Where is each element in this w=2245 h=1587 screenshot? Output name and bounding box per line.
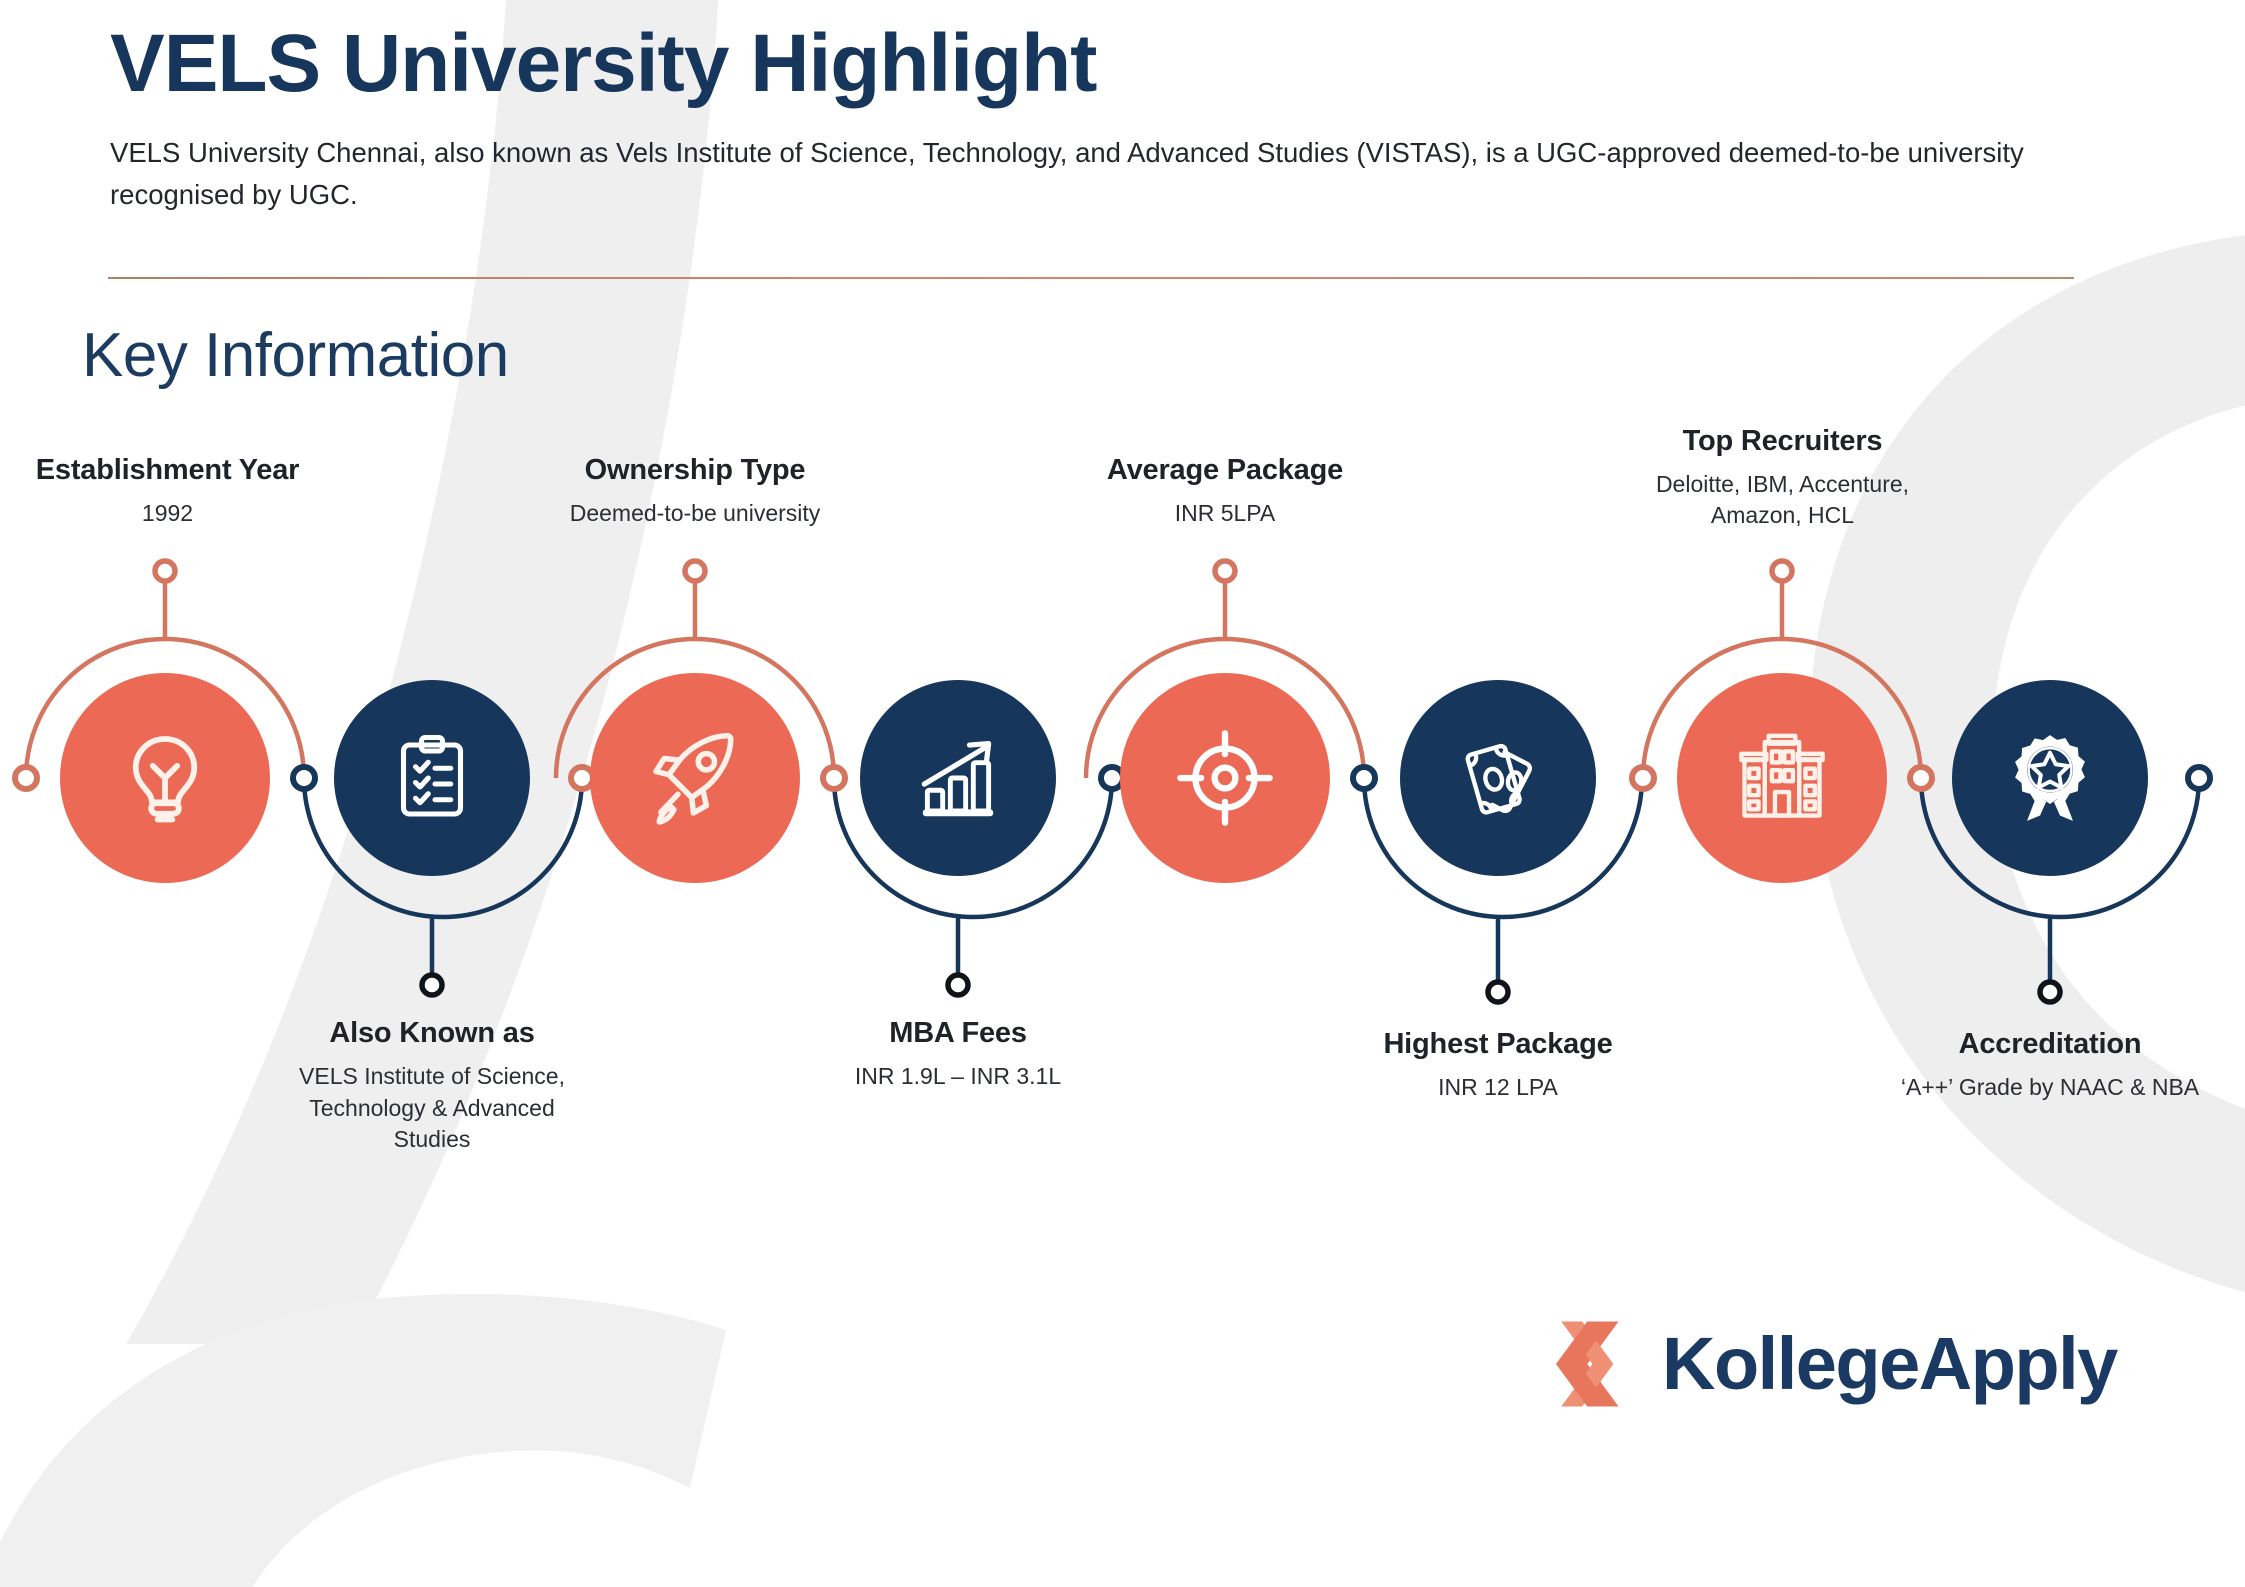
building-icon — [1732, 728, 1832, 828]
label-mba-fees: MBA Fees INR 1.9L – INR 3.1L — [788, 1015, 1128, 1093]
banknotes-icon — [1450, 730, 1546, 826]
disc-average-package[interactable] — [1120, 673, 1330, 883]
label-title: Average Package — [1040, 452, 1410, 488]
disc-establishment-year[interactable] — [60, 673, 270, 883]
label-average-package: Average Package INR 5LPA — [1040, 452, 1410, 530]
section-title: Key Information — [82, 320, 509, 391]
label-title: Top Recruiters — [1610, 423, 1955, 459]
label-value: Deloitte, IBM, Accenture, Amazon, HCL — [1610, 469, 1955, 530]
label-value: INR 5LPA — [1040, 498, 1410, 530]
label-accreditation: Accreditation ‘A++’ Grade by NAAC & NBA — [1855, 1026, 2245, 1104]
label-title: Ownership Type — [505, 452, 885, 488]
infographic-canvas: VELS University Highlight VELS Universit… — [0, 0, 2245, 1587]
label-ownership-type: Ownership Type Deemed-to-be university — [505, 452, 885, 530]
rocket-icon — [643, 726, 747, 830]
label-title: Establishment Year — [0, 452, 340, 488]
label-value: INR 12 LPA — [1318, 1072, 1678, 1104]
brand-name: KollegeApply — [1662, 1327, 2117, 1401]
disc-top-recruiters[interactable] — [1677, 673, 1887, 883]
disc-also-known-as[interactable] — [334, 680, 530, 876]
brand-logo[interactable]: KollegeApply — [1552, 1318, 2117, 1410]
label-value: VELS Institute of Science, Technology & … — [262, 1061, 602, 1155]
label-title: Accreditation — [1855, 1026, 2245, 1062]
disc-accreditation[interactable] — [1952, 680, 2148, 876]
target-icon — [1174, 727, 1276, 829]
clipboard-checklist-icon — [384, 730, 480, 826]
label-establishment-year: Establishment Year 1992 — [0, 452, 340, 530]
label-highest-package: Highest Package INR 12 LPA — [1318, 1026, 1678, 1104]
award-ribbon-icon — [2001, 729, 2099, 827]
label-value: 1992 — [0, 498, 340, 530]
label-also-known-as: Also Known as VELS Institute of Science,… — [262, 1015, 602, 1155]
bar-chart-growth-icon — [909, 729, 1007, 827]
page-title: VELS University Highlight — [110, 18, 2120, 110]
label-title: MBA Fees — [788, 1015, 1128, 1051]
disc-mba-fees[interactable] — [860, 680, 1056, 876]
double-chevron-logo-icon — [1552, 1318, 1640, 1410]
disc-highest-package[interactable] — [1400, 680, 1596, 876]
header-block: VELS University Highlight VELS Universit… — [110, 18, 2120, 215]
disc-ownership-type[interactable] — [590, 673, 800, 883]
page-subtitle: VELS University Chennai, also known as V… — [110, 132, 2070, 216]
header-divider — [108, 277, 2074, 279]
label-value: INR 1.9L – INR 3.1L — [788, 1061, 1128, 1093]
label-title: Highest Package — [1318, 1026, 1678, 1062]
lightbulb-icon — [113, 726, 217, 830]
label-title: Also Known as — [262, 1015, 602, 1051]
label-top-recruiters: Top Recruiters Deloitte, IBM, Accenture,… — [1610, 423, 1955, 530]
label-value: Deemed-to-be university — [505, 498, 885, 530]
label-value: ‘A++’ Grade by NAAC & NBA — [1855, 1072, 2245, 1104]
